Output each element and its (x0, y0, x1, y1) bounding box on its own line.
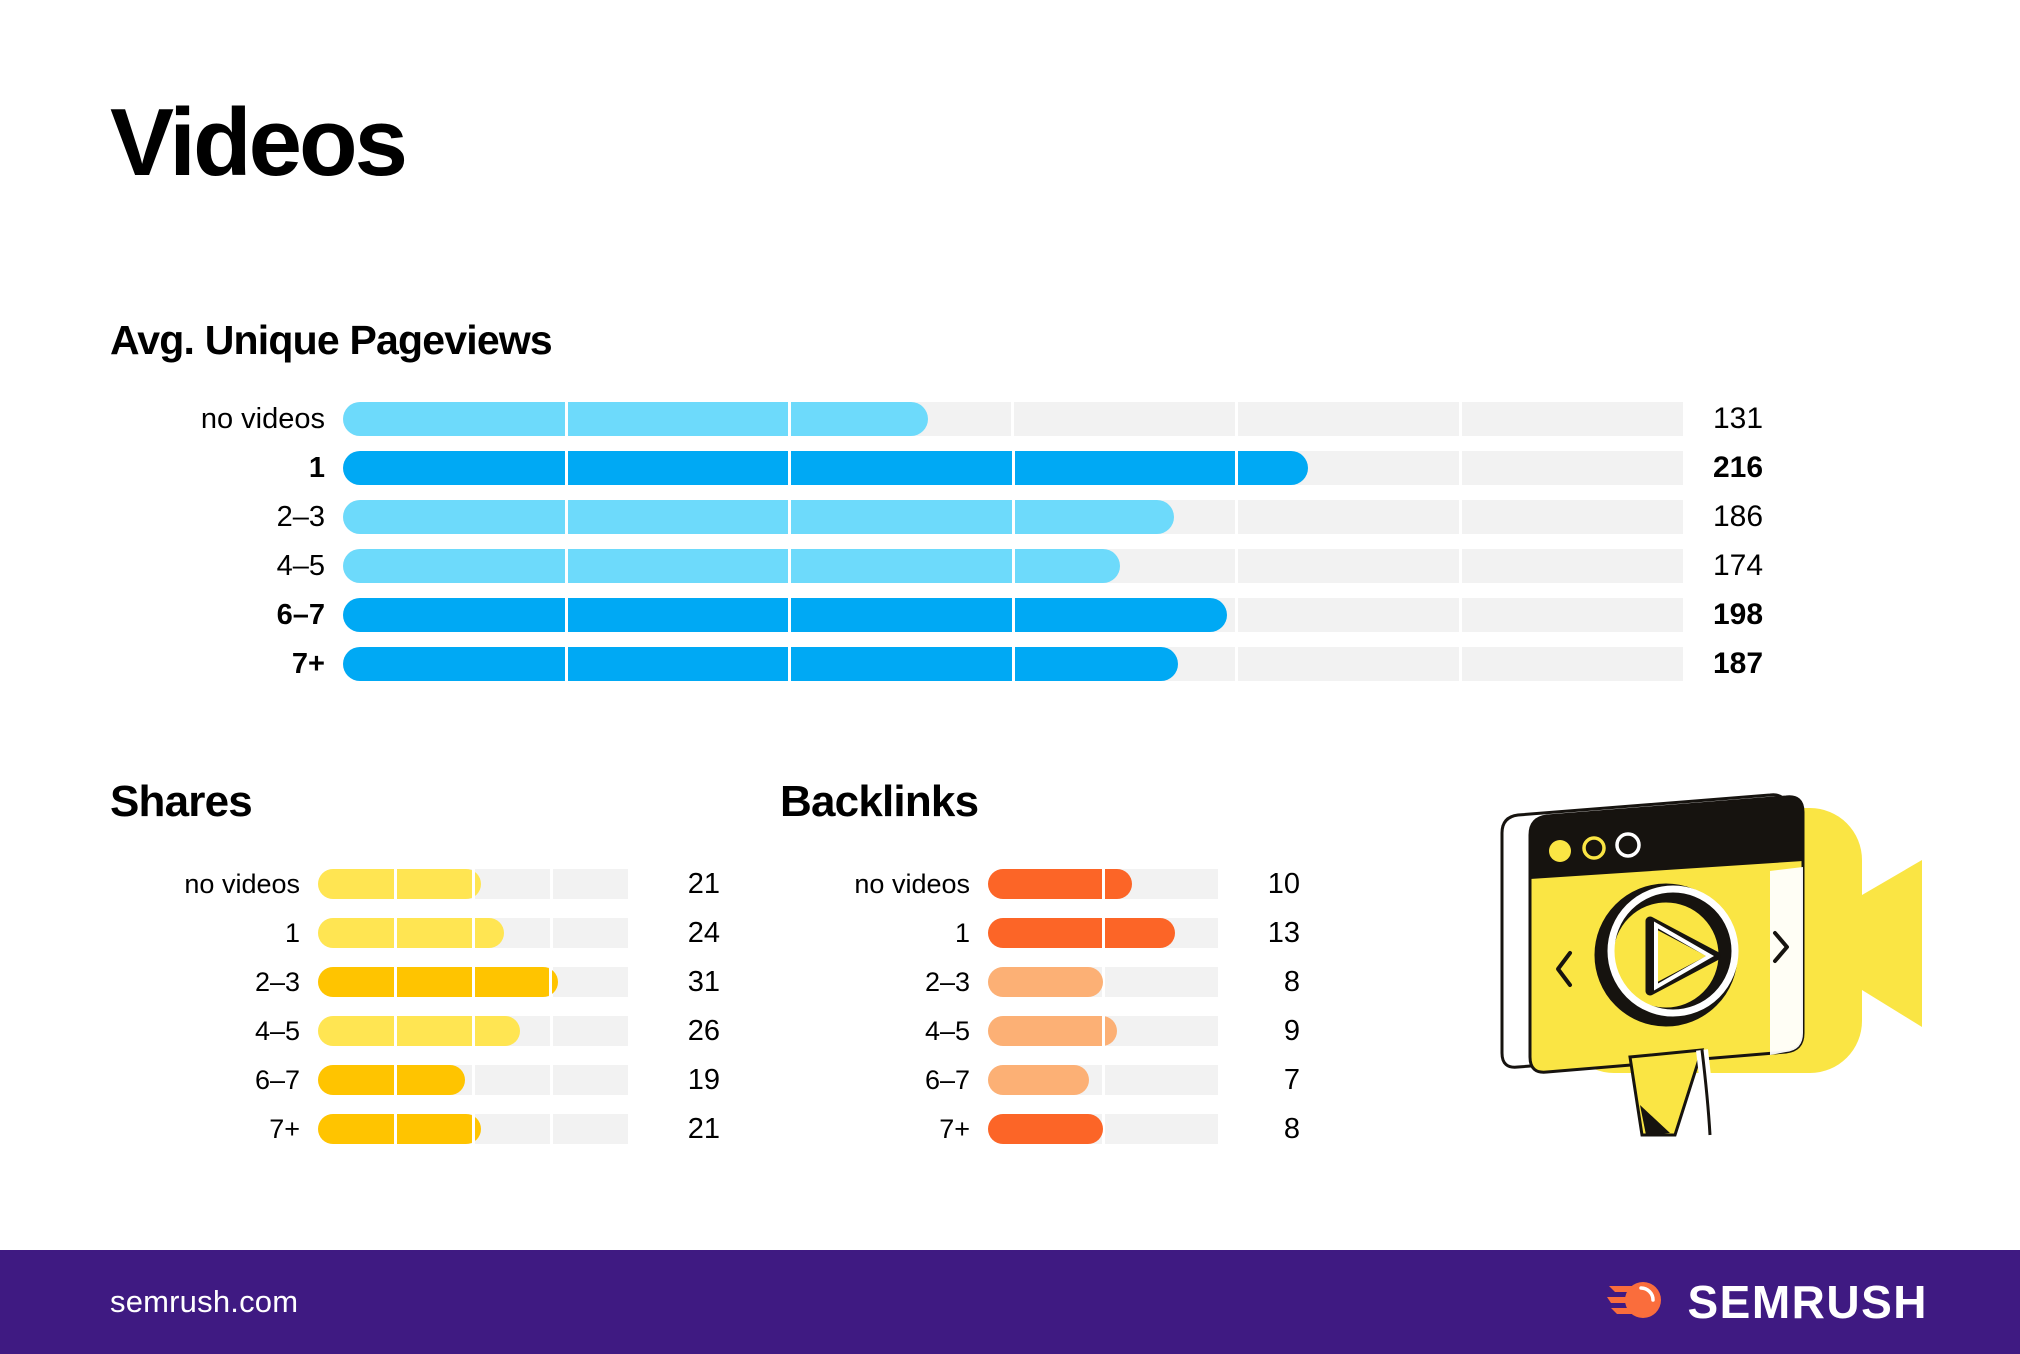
shares-value-label: 19 (650, 1064, 720, 1097)
shares-track-segment (475, 918, 550, 948)
pageviews-value-label: 216 (1713, 451, 1833, 485)
shares-row: no videos21 (110, 860, 710, 908)
shares-bar-track (318, 1016, 628, 1046)
shares-track-segment (553, 918, 628, 948)
backlinks-category-label: no videos (780, 869, 970, 900)
backlinks-section-title: Backlinks (780, 780, 978, 824)
backlinks-track-segment (988, 1016, 1102, 1046)
pageviews-bar-track (343, 500, 1683, 534)
semrush-logo-text: SEMRUSH (1687, 1275, 1928, 1329)
backlinks-track-segment (1105, 918, 1219, 948)
pageviews-track-segment (343, 402, 564, 436)
pageviews-category-label: 7+ (110, 648, 325, 681)
page-title: Videos (110, 95, 405, 191)
pageviews-track-segment (1238, 598, 1459, 632)
shares-track-segment (318, 967, 393, 997)
shares-track-segment (318, 869, 393, 899)
backlinks-bar-chart: no videos101132–384–596–777+8 (780, 860, 1340, 1154)
shares-track-segment (553, 1065, 628, 1095)
pageviews-track-segment (1014, 451, 1235, 485)
window-dot-filled (1549, 840, 1571, 862)
backlinks-category-label: 1 (780, 918, 970, 949)
shares-row: 4–526 (110, 1007, 710, 1055)
backlinks-track-segment (1105, 1114, 1219, 1144)
shares-track-segment (475, 967, 550, 997)
backlinks-value-label: 8 (1240, 1113, 1300, 1146)
semrush-comet-icon (1607, 1276, 1667, 1329)
pageviews-track-segment (1238, 451, 1459, 485)
backlinks-category-label: 6–7 (780, 1065, 970, 1096)
shares-bar-track (318, 1065, 628, 1095)
pageviews-category-label: 1 (110, 452, 325, 485)
shares-value-label: 21 (650, 868, 720, 901)
pageviews-track-segment (567, 402, 788, 436)
pageviews-bar-track (343, 598, 1683, 632)
shares-row: 7+21 (110, 1105, 710, 1153)
pageviews-track-segment (567, 500, 788, 534)
shares-track-segment (553, 967, 628, 997)
pageviews-track-segment (343, 500, 564, 534)
pageviews-section-title: Avg. Unique Pageviews (110, 320, 552, 361)
pageviews-row: 4–5174 (110, 542, 1910, 590)
pageviews-track-segment (1462, 549, 1683, 583)
shares-track-segment (475, 1016, 550, 1046)
backlinks-row: 6–77 (780, 1056, 1340, 1104)
pageviews-track-segment (343, 549, 564, 583)
shares-category-label: 4–5 (110, 1016, 300, 1047)
backlinks-bar-track (988, 1016, 1218, 1046)
pageviews-track-segment (1238, 549, 1459, 583)
pageviews-value-label: 187 (1713, 647, 1833, 681)
semrush-logo[interactable]: SEMRUSH (1607, 1275, 1928, 1329)
pageviews-row: 1216 (110, 444, 1910, 492)
shares-bar-track (318, 967, 628, 997)
shares-track-segment (318, 918, 393, 948)
shares-track-segment (475, 1065, 550, 1095)
shares-value-label: 26 (650, 1015, 720, 1048)
pageviews-value-label: 198 (1713, 598, 1833, 632)
pageviews-track-segment (343, 451, 564, 485)
shares-track-segment (396, 1016, 471, 1046)
pageviews-category-label: no videos (110, 403, 325, 436)
backlinks-track-segment (988, 967, 1102, 997)
backlinks-row: 7+8 (780, 1105, 1340, 1153)
pageviews-track-segment (567, 549, 788, 583)
backlinks-track-segment (988, 869, 1102, 899)
backlinks-row: 4–59 (780, 1007, 1340, 1055)
backlinks-category-label: 7+ (780, 1114, 970, 1145)
shares-value-label: 24 (650, 917, 720, 950)
shares-track-segment (553, 869, 628, 899)
shares-track-segment (318, 1016, 393, 1046)
backlinks-bar-track (988, 1114, 1218, 1144)
pageviews-row: no videos131 (110, 395, 1910, 443)
shares-track-segment (396, 869, 471, 899)
pageviews-track-segment (1462, 598, 1683, 632)
backlinks-bar-track (988, 967, 1218, 997)
pageviews-category-label: 6–7 (110, 599, 325, 632)
backlinks-bar-track (988, 918, 1218, 948)
shares-row: 124 (110, 909, 710, 957)
shares-track-segment (396, 1065, 471, 1095)
shares-track-segment (396, 1114, 471, 1144)
shares-row: 6–719 (110, 1056, 710, 1104)
backlinks-track-segment (988, 1065, 1102, 1095)
backlinks-track-segment (1105, 1065, 1219, 1095)
shares-row: 2–331 (110, 958, 710, 1006)
pageviews-track-segment (343, 647, 564, 681)
video-camera-browser-illustration (1470, 775, 1930, 1145)
shares-value-label: 21 (650, 1113, 720, 1146)
footer-url[interactable]: semrush.com (110, 1284, 298, 1320)
shares-category-label: 2–3 (110, 967, 300, 998)
pageviews-track-segment (791, 598, 1012, 632)
pageviews-row: 7+187 (110, 640, 1910, 688)
backlinks-row: 113 (780, 909, 1340, 957)
shares-track-segment (553, 1016, 628, 1046)
shares-track-segment (318, 1114, 393, 1144)
backlinks-row: 2–38 (780, 958, 1340, 1006)
backlinks-value-label: 7 (1240, 1064, 1300, 1097)
infographic-page: Videos Avg. Unique Pageviews no videos13… (0, 0, 2020, 1354)
pageviews-row: 2–3186 (110, 493, 1910, 541)
pageviews-track-segment (567, 598, 788, 632)
footer-bar: semrush.com SEMRUSH (0, 1250, 2020, 1354)
pageviews-track-segment (1238, 500, 1459, 534)
pageviews-value-label: 174 (1713, 549, 1833, 583)
shares-category-label: 7+ (110, 1114, 300, 1145)
shares-track-segment (553, 1114, 628, 1144)
shares-track-segment (396, 967, 471, 997)
pageviews-category-label: 4–5 (110, 550, 325, 583)
backlinks-row: no videos10 (780, 860, 1340, 908)
backlinks-bar-track (988, 869, 1218, 899)
backlinks-track-segment (1105, 1016, 1219, 1046)
shares-track-segment (318, 1065, 393, 1095)
shares-track-segment (475, 869, 550, 899)
pageviews-track-segment (791, 647, 1012, 681)
pageviews-track-segment (1238, 402, 1459, 436)
shares-track-segment (475, 1114, 550, 1144)
pageviews-track-segment (567, 647, 788, 681)
pageviews-track-segment (1014, 647, 1235, 681)
backlinks-track-segment (1105, 869, 1219, 899)
backlinks-value-label: 9 (1240, 1015, 1300, 1048)
pageviews-bar-track (343, 647, 1683, 681)
pageviews-track-segment (791, 402, 1012, 436)
backlinks-bar-track (988, 1065, 1218, 1095)
backlinks-track-segment (988, 918, 1102, 948)
pageviews-bar-track (343, 402, 1683, 436)
pageviews-track-segment (791, 549, 1012, 583)
pageviews-value-label: 186 (1713, 500, 1833, 534)
pageviews-track-segment (1238, 647, 1459, 681)
pageviews-track-segment (1014, 598, 1235, 632)
pageviews-track-segment (343, 598, 564, 632)
pageviews-track-segment (1462, 500, 1683, 534)
shares-category-label: no videos (110, 869, 300, 900)
shares-value-label: 31 (650, 966, 720, 999)
shares-bar-chart: no videos211242–3314–5266–7197+21 (110, 860, 710, 1154)
backlinks-category-label: 2–3 (780, 967, 970, 998)
shares-track-segment (396, 918, 471, 948)
pageviews-track-segment (1462, 402, 1683, 436)
pageviews-value-label: 131 (1713, 402, 1833, 436)
pageviews-bar-track (343, 549, 1683, 583)
pageviews-track-segment (1014, 549, 1235, 583)
pageviews-bar-track (343, 451, 1683, 485)
pageviews-category-label: 2–3 (110, 501, 325, 534)
pageviews-track-segment (567, 451, 788, 485)
pageviews-track-segment (791, 500, 1012, 534)
backlinks-value-label: 8 (1240, 966, 1300, 999)
pageviews-track-segment (1462, 451, 1683, 485)
shares-section-title: Shares (110, 780, 252, 824)
backlinks-value-label: 10 (1240, 868, 1300, 901)
pageviews-track-segment (791, 451, 1012, 485)
shares-bar-track (318, 869, 628, 899)
backlinks-category-label: 4–5 (780, 1016, 970, 1047)
pageviews-row: 6–7198 (110, 591, 1910, 639)
pageviews-track-segment (1014, 500, 1235, 534)
shares-category-label: 6–7 (110, 1065, 300, 1096)
backlinks-value-label: 13 (1240, 917, 1300, 950)
pageviews-track-segment (1462, 647, 1683, 681)
backlinks-track-segment (988, 1114, 1102, 1144)
shares-bar-track (318, 918, 628, 948)
backlinks-track-segment (1105, 967, 1219, 997)
pageviews-track-segment (1014, 402, 1235, 436)
shares-bar-track (318, 1114, 628, 1144)
pageviews-bar-chart: no videos13112162–31864–51746–71987+187 (110, 395, 1910, 689)
shares-category-label: 1 (110, 918, 300, 949)
